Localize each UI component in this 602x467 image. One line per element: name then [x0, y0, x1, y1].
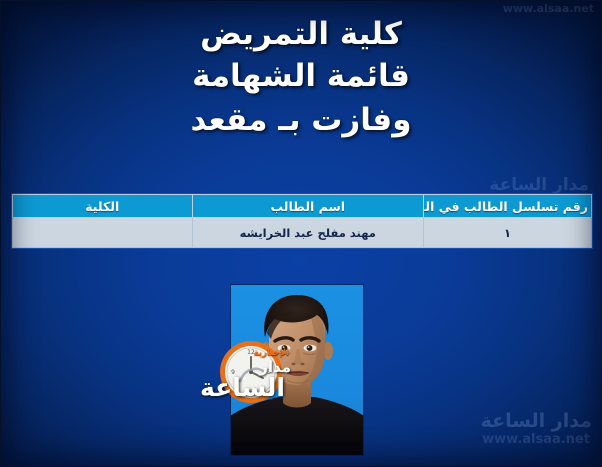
- madar-alsaa-logo: 12 3 6 9 الإخبارية مدار الساعة: [168, 338, 293, 406]
- title-line-2: قائمة الشهامة: [0, 58, 602, 96]
- column-header-student-name: اسم الطالب: [192, 195, 424, 218]
- cell-student-name: مهند مفلح عبد الخرايشه: [192, 218, 424, 248]
- students-table-wrapper: رقم تسلسل الطالب في القائمة اسم الطالب ا…: [11, 193, 593, 249]
- column-header-faculty: الكلية: [13, 195, 193, 218]
- title-line-3: وفازت بـ مقعد: [0, 102, 602, 140]
- cell-sequence: ١: [424, 218, 592, 248]
- presentation-slide: www.alsaa.net مدار الساعة مدار الساعة ww…: [0, 0, 602, 467]
- table-header-row: رقم تسلسل الطالب في القائمة اسم الطالب ا…: [13, 195, 592, 218]
- table-row: ١ مهند مفلح عبد الخرايشه: [13, 218, 592, 248]
- slide-title-block: كلية التمريض قائمة الشهامة وفازت بـ مقعد: [0, 16, 602, 139]
- logo-brand-main: الساعة: [200, 373, 285, 402]
- watermark-bottom-right-brand: مدار الساعة: [481, 410, 592, 432]
- cell-faculty: [13, 218, 193, 248]
- students-table: رقم تسلسل الطالب في القائمة اسم الطالب ا…: [12, 194, 592, 248]
- logo-tagline: الإخبارية: [254, 348, 289, 358]
- watermark-mid-right: مدار الساعة: [489, 175, 589, 195]
- watermark-top-right: www.alsaa.net: [503, 2, 594, 15]
- column-header-sequence: رقم تسلسل الطالب في القائمة: [424, 195, 592, 218]
- title-line-1: كلية التمريض: [0, 16, 602, 54]
- watermark-bottom-right-url: www.alsaa.net: [482, 432, 590, 447]
